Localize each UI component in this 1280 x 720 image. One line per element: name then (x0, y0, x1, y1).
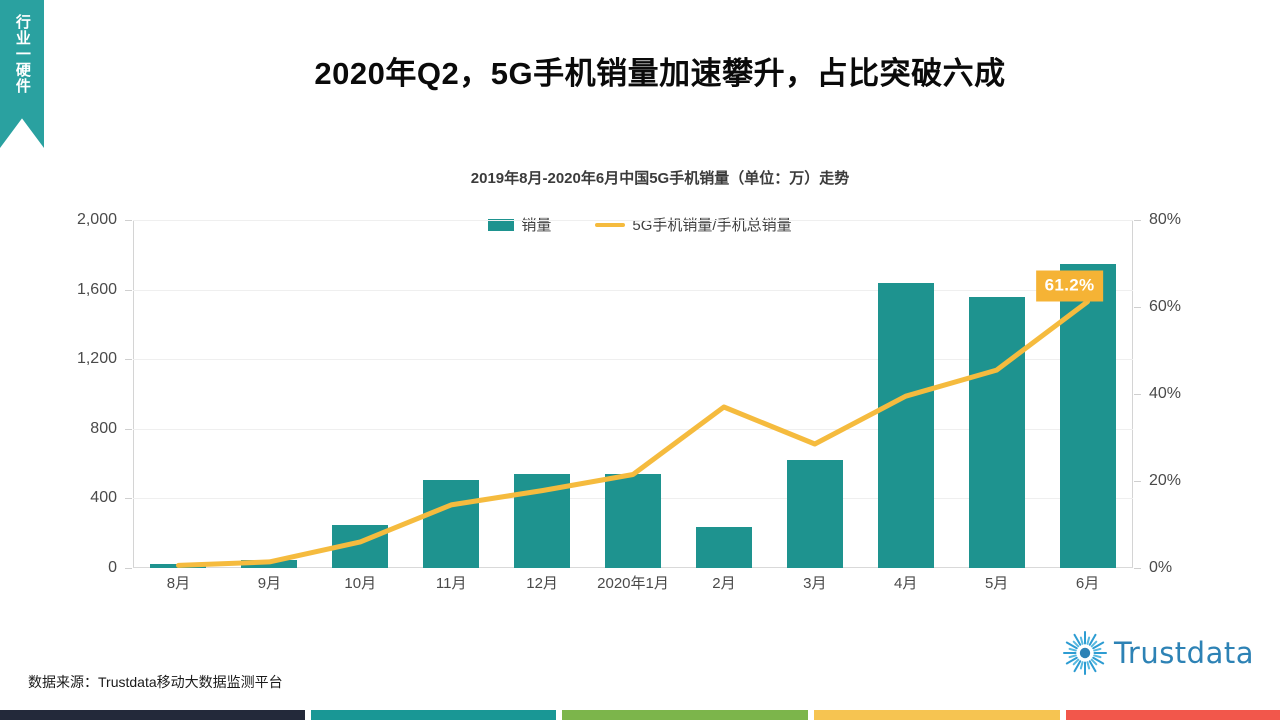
y-tick-left (125, 359, 132, 360)
brand-logo: Trustdata (1062, 630, 1254, 676)
x-tick-label: 2020年1月 (597, 572, 669, 593)
y-tick-left (125, 498, 132, 499)
x-tick-label: 9月 (258, 572, 281, 593)
y-tick-left (125, 568, 132, 569)
x-tick-label: 12月 (526, 572, 558, 593)
y-tick-label-left: 0 (108, 559, 117, 577)
y-tick-label-left: 400 (90, 489, 117, 507)
sunburst-icon (1062, 630, 1108, 676)
y-tick-label-right: 0% (1149, 559, 1172, 577)
y-tick-label-right: 60% (1149, 298, 1181, 316)
ribbon-label: 行业一硬件 (12, 14, 32, 94)
y-tick-label-right: 40% (1149, 385, 1181, 403)
line-series (133, 220, 1133, 568)
y-tick-label-left: 800 (90, 420, 117, 438)
y-tick-left (125, 290, 132, 291)
y-tick-right (1134, 307, 1141, 308)
strip-segment (562, 710, 808, 720)
x-tick-label: 6月 (1076, 572, 1099, 593)
strip-segment (1066, 710, 1280, 720)
y-tick-right (1134, 394, 1141, 395)
page-title: 2020年Q2，5G手机销量加速攀升，占比突破六成 (120, 48, 1200, 93)
y-tick-label-left: 2,000 (77, 211, 117, 229)
strip-segment (311, 710, 557, 720)
y-tick-label-left: 1,600 (77, 281, 117, 299)
y-tick-left (125, 429, 132, 430)
strip-segment (814, 710, 1060, 720)
source-note: 数据来源：Trustdata移动大数据监测平台 (28, 672, 283, 692)
x-tick-label: 8月 (167, 572, 190, 593)
chart-title: 2019年8月-2020年6月中国5G手机销量（单位：万）走势 (120, 167, 1200, 188)
y-tick-right (1134, 220, 1141, 221)
x-tick-label: 5月 (985, 572, 1008, 593)
brand-name: Trustdata (1114, 636, 1254, 670)
y-tick-left (125, 220, 132, 221)
strip-segment (0, 710, 305, 720)
y-tick-label-right: 80% (1149, 211, 1181, 229)
x-tick-label: 4月 (894, 572, 917, 593)
chart-plot-area: 04008001,2001,6002,000 0%20%40%60%80% 8月… (133, 220, 1133, 568)
y-tick-right (1134, 481, 1141, 482)
x-tick-label: 3月 (803, 572, 826, 593)
section-ribbon: 行业一硬件 (0, 0, 44, 148)
x-tick-label: 2月 (712, 572, 735, 593)
y-tick-label-right: 20% (1149, 472, 1181, 490)
data-label-badge: 61.2% (1036, 270, 1104, 301)
bottom-color-strip (0, 710, 1280, 720)
x-tick-label: 11月 (436, 572, 467, 593)
y-tick-label-left: 1,200 (77, 350, 117, 368)
x-tick-label: 10月 (344, 572, 376, 593)
y-tick-right (1134, 568, 1141, 569)
